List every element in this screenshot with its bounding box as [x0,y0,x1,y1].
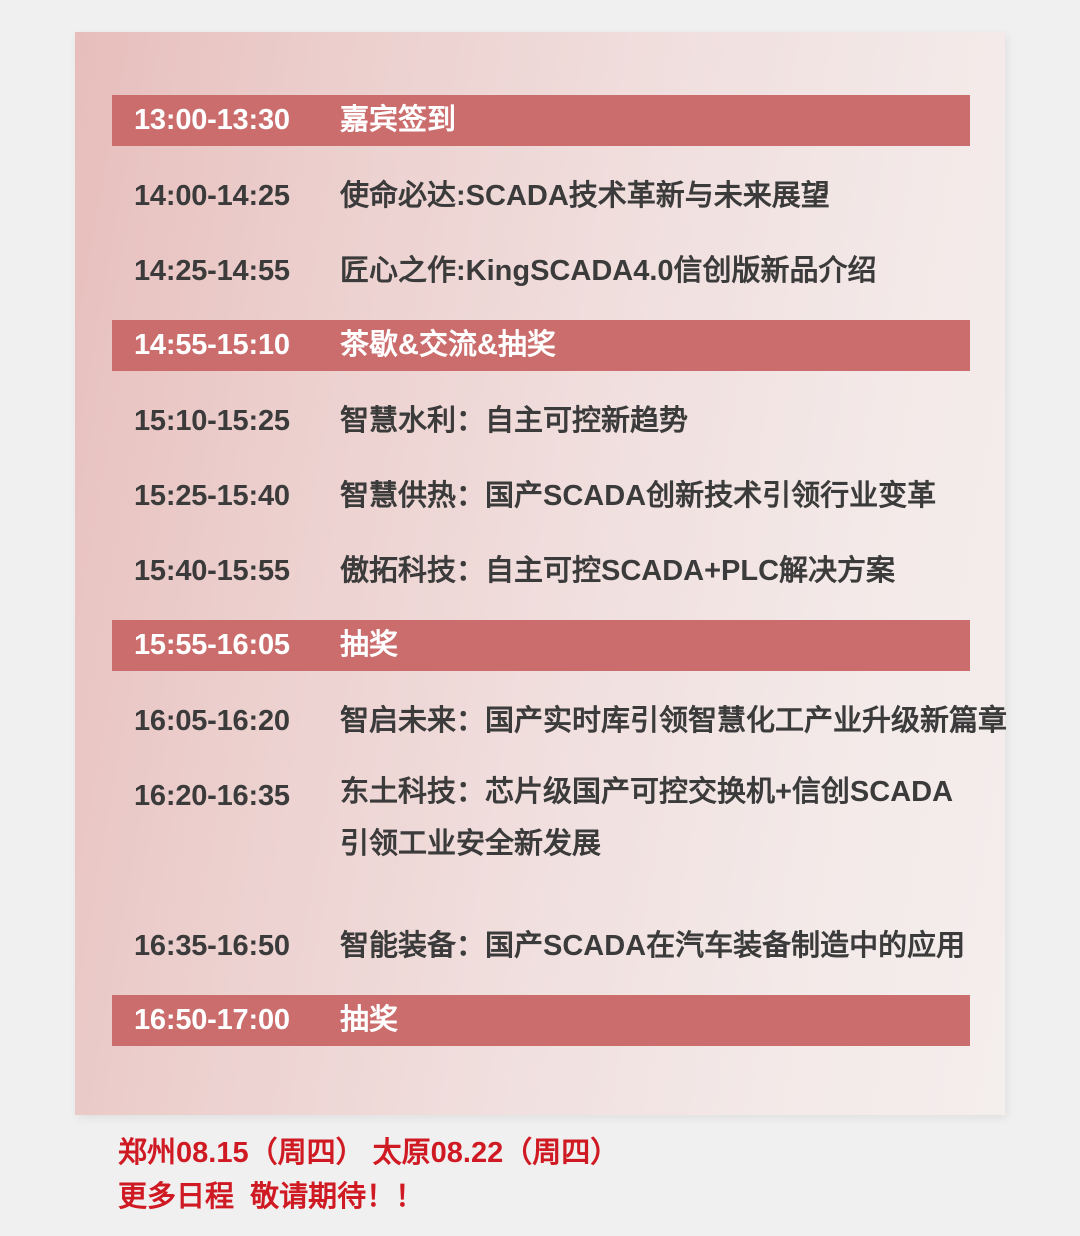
agenda-row-title-line1: 智慧水利：自主可控新趋势 [340,405,688,437]
agenda-row-title-line1: 智慧供热：国产SCADA创新技术引领行业变革 [340,480,936,512]
agenda-row: 15:40-15:55傲拓科技：自主可控SCADA+PLC解决方案 [112,545,970,597]
agenda-row-time: 14:00-14:25 [134,180,340,213]
agenda-row: 15:25-15:40智慧供热：国产SCADA创新技术引领行业变革 [112,470,970,522]
agenda-row-title: 东土科技：芯片级国产可控交换机+信创SCADA引领工业安全新发展 [340,778,970,859]
agenda-row: 14:25-14:55匠心之作:KingSCADA4.0信创版新品介绍 [112,245,970,297]
agenda-row-title-line2: 引领工业安全新发展 [340,830,970,859]
agenda-row-title-line1: 傲拓科技：自主可控SCADA+PLC解决方案 [340,555,895,587]
agenda-row-time: 16:05-16:20 [134,705,340,738]
agenda-row: 16:50-17:00抽奖 [112,995,970,1046]
agenda-row-title: 智慧供热：国产SCADA创新技术引领行业变革 [340,482,970,511]
agenda-row: 15:55-16:05抽奖 [112,620,970,671]
agenda-row-title-line1: 使命必达:SCADA技术革新与未来展望 [340,180,830,212]
agenda-row-time: 16:50-17:00 [134,1004,340,1037]
agenda-row-time: 15:25-15:40 [134,480,340,513]
agenda-row-title: 匠心之作:KingSCADA4.0信创版新品介绍 [340,257,970,286]
agenda-row-time: 15:55-16:05 [134,629,340,662]
agenda-row-time: 14:25-14:55 [134,255,340,288]
agenda-row: 14:55-15:10茶歇&交流&抽奖 [112,320,970,371]
agenda-row-title-line1: 嘉宾签到 [340,104,456,136]
agenda-row: 14:00-14:25使命必达:SCADA技术革新与未来展望 [112,170,970,222]
agenda-row-title: 抽奖 [340,1006,970,1035]
agenda-row-title-line1: 匠心之作:KingSCADA4.0信创版新品介绍 [340,255,877,287]
agenda-row-time: 15:40-15:55 [134,555,340,588]
agenda-row-time: 15:10-15:25 [134,405,340,438]
agenda-row-title-line1: 抽奖 [340,1004,398,1036]
agenda-row-title: 智能装备：国产SCADA在汽车装备制造中的应用 [340,932,970,961]
agenda-row-time: 16:20-16:35 [134,778,340,813]
agenda-row-title-line1: 抽奖 [340,629,398,661]
agenda-row: 15:10-15:25智慧水利：自主可控新趋势 [112,395,970,447]
agenda-row-time: 14:55-15:10 [134,329,340,362]
agenda-row-title: 使命必达:SCADA技术革新与未来展望 [340,182,970,211]
agenda-panel: 13:00-13:30嘉宾签到14:00-14:25使命必达:SCADA技术革新… [75,32,1005,1115]
agenda-row-title-line1: 智启未来：国产实时库引领智慧化工产业升级新篇章 [340,705,1007,737]
agenda-row: 13:00-13:30嘉宾签到 [112,95,970,146]
agenda-row-time: 13:00-13:30 [134,104,340,137]
footer-block: 郑州08.15（周四） 太原08.22（周四） 更多日程 敬请期待！！ [118,1131,918,1219]
agenda-row: 16:05-16:20智启未来：国产实时库引领智慧化工产业升级新篇章 [112,695,970,747]
agenda-row-title-line1: 智能装备：国产SCADA在汽车装备制造中的应用 [340,930,965,962]
agenda-row-title-line1: 茶歇&交流&抽奖 [340,329,556,361]
agenda-row-title-line1: 东土科技：芯片级国产可控交换机+信创SCADA [340,776,953,808]
agenda-row-title: 茶歇&交流&抽奖 [340,331,970,360]
agenda-row-title: 智启未来：国产实时库引领智慧化工产业升级新篇章 [340,707,1007,736]
agenda-row-title: 抽奖 [340,631,970,660]
agenda-row-title: 傲拓科技：自主可控SCADA+PLC解决方案 [340,557,970,586]
footer-line-more: 更多日程 敬请期待！！ [118,1175,918,1219]
footer-line-cities: 郑州08.15（周四） 太原08.22（周四） [118,1131,918,1175]
agenda-row: 16:35-16:50智能装备：国产SCADA在汽车装备制造中的应用 [112,920,970,972]
agenda-row: 16:20-16:35东土科技：芯片级国产可控交换机+信创SCADA引领工业安全… [112,770,970,898]
agenda-row-time: 16:35-16:50 [134,930,340,963]
agenda-row-title: 嘉宾签到 [340,106,970,135]
agenda-row-title: 智慧水利：自主可控新趋势 [340,407,970,436]
